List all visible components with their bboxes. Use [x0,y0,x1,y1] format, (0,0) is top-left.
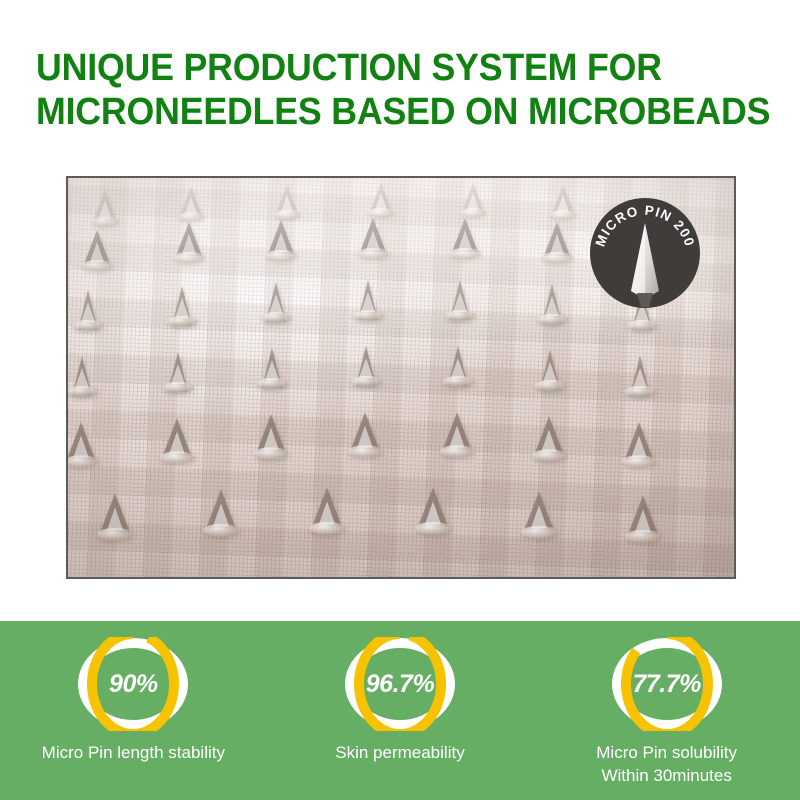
microneedle [351,412,380,449]
stat-micro-pin-solubility: 77.7% Micro Pin solubility Within 30minu… [539,637,794,787]
stats-row: 90% Micro Pin length stability 96.7% Ski… [0,621,800,800]
stat-label-3: Micro Pin solubility Within 30minutes [539,741,794,787]
microneedle [542,284,562,324]
microneedle [168,352,188,392]
microneedle [540,350,560,390]
microneedle [524,491,554,530]
microneedle [312,487,342,526]
microneedle [176,222,202,256]
progress-ring-3: 77.7% [611,637,723,731]
microneedle [535,416,564,453]
microneedle [84,230,110,264]
microneedle [450,280,470,320]
stat-skin-permeability: 96.7% Skin permeability [272,637,527,764]
microneedle [356,346,376,386]
stat-value-2: 96.7% [344,637,456,731]
microneedle [448,346,468,386]
microneedle [163,418,192,455]
stat-label-2: Skin permeability [272,741,527,764]
microneedle [72,356,92,396]
microneedle [462,183,484,212]
microneedle [360,218,386,252]
microneedle [276,185,298,214]
microneedle [93,190,116,221]
microneedle [544,222,570,256]
micro-pin-200-badge: MICRO PIN 200 [589,197,701,309]
microneedle [452,218,478,252]
page-title: UNIQUE PRODUCTION SYSTEM FOR MICRONEEDLE… [36,46,776,134]
microneedle [268,220,294,254]
microneedle [100,493,130,532]
poster-root: UNIQUE PRODUCTION SYSTEM FOR MICRONEEDLE… [0,0,800,800]
microneedle [552,185,574,214]
microneedle [78,290,98,330]
microneedle [443,412,472,449]
microneedle [370,183,392,212]
microneedle [628,495,658,534]
microneedle [625,422,654,459]
stat-label-1: Micro Pin length stability [6,741,261,764]
microneedle [257,414,286,451]
microneedle [418,487,448,526]
stats-band: 90% Micro Pin length stability 96.7% Ski… [0,621,800,800]
stat-value-1: 90% [77,637,189,731]
stat-label-3-line-1: Micro Pin solubility [539,741,794,764]
microneedle [266,282,286,322]
microneedle [172,286,192,326]
stat-micro-pin-length-stability: 90% Micro Pin length stability [6,637,261,764]
page-title-line-2: MICRONEEDLES BASED ON MICROBEADS [36,90,732,134]
microneedle [180,187,202,216]
stat-label-3-line-2: Within 30minutes [539,764,794,787]
stat-value-3: 77.7% [611,637,723,731]
progress-ring-1: 90% [77,637,189,731]
page-title-line-1: UNIQUE PRODUCTION SYSTEM FOR [36,46,732,90]
microneedle [358,280,378,320]
microneedle [630,356,650,396]
microneedle [67,422,96,459]
progress-ring-2: 96.7% [344,637,456,731]
stat-label-2-line-1: Skin permeability [272,741,527,764]
microneedle [262,348,282,388]
stat-label-1-line-1: Micro Pin length stability [6,741,261,764]
microneedle [206,489,236,528]
